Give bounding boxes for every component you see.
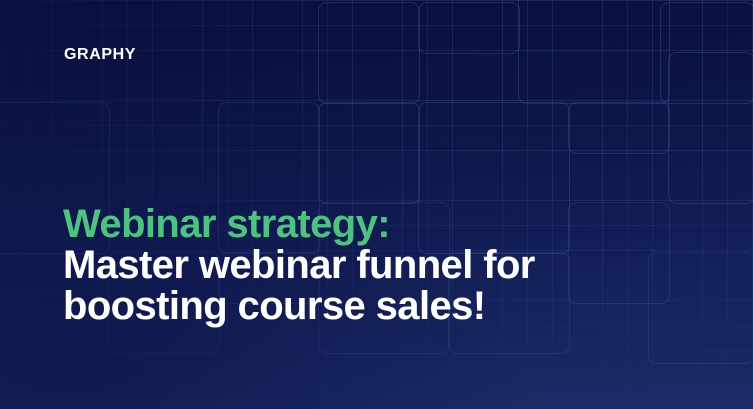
headline-line-2: Master webinar funnel for — [63, 245, 535, 286]
brand-logo: GRAPHY — [64, 47, 136, 63]
headline-line-3: boosting course sales! — [63, 286, 535, 327]
webinar-promo-banner: GRAPHY Webinar strategy: Master webinar … — [0, 0, 753, 409]
headline-block: Webinar strategy: Master webinar funnel … — [63, 204, 535, 327]
headline-accent-line: Webinar strategy: — [63, 204, 535, 245]
